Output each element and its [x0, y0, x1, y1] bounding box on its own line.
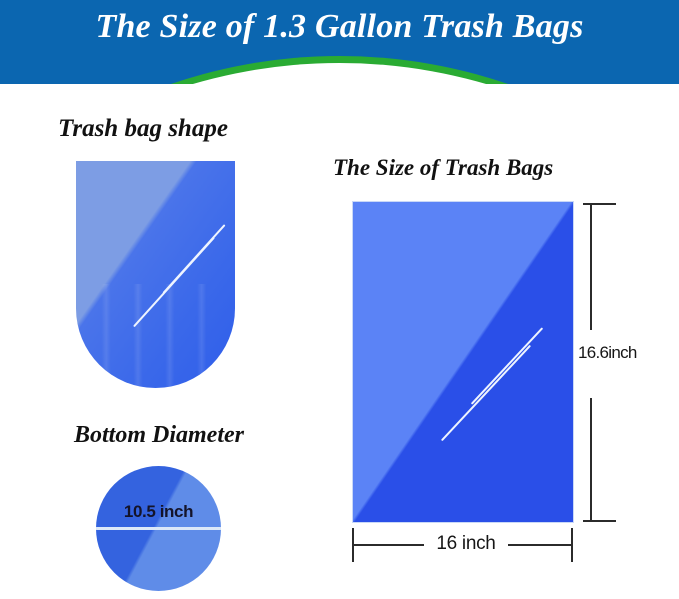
width-dimension-label: 16 inch	[424, 533, 508, 555]
bottom-diameter-illustration: 10.5 inch	[96, 466, 221, 591]
page-title: The Size of 1.3 Gallon Trash Bags	[0, 8, 679, 46]
size-of-trash-bags-label: The Size of Trash Bags	[333, 155, 553, 181]
height-dimension-upper-line	[590, 203, 592, 330]
trash-bag-shape-label: Trash bag shape	[58, 115, 228, 143]
infographic-page: The Size of 1.3 Gallon Trash Bags Trash …	[0, 0, 679, 599]
height-dimension-label: 16.6inch	[578, 343, 637, 363]
bottom-diameter-label: Bottom Diameter	[74, 422, 244, 449]
width-dimension-right-line	[508, 544, 573, 546]
rect-highlight-streak-icon	[441, 345, 531, 441]
circle-body	[96, 466, 221, 591]
rect-highlight-streak-icon	[471, 327, 543, 404]
height-dimension-bottom-tick	[583, 520, 616, 522]
diameter-value-text: 10.5 inch	[96, 502, 221, 522]
height-dimension-lower-line	[590, 398, 592, 522]
bag-body	[76, 161, 235, 388]
width-dimension-left-line	[352, 544, 424, 546]
diameter-line	[96, 527, 221, 530]
trash-bag-shape-illustration	[76, 161, 235, 388]
trash-bag-rectangle	[353, 202, 573, 522]
height-dimension-top-tick	[583, 203, 616, 205]
header-white-arc	[0, 63, 679, 84]
